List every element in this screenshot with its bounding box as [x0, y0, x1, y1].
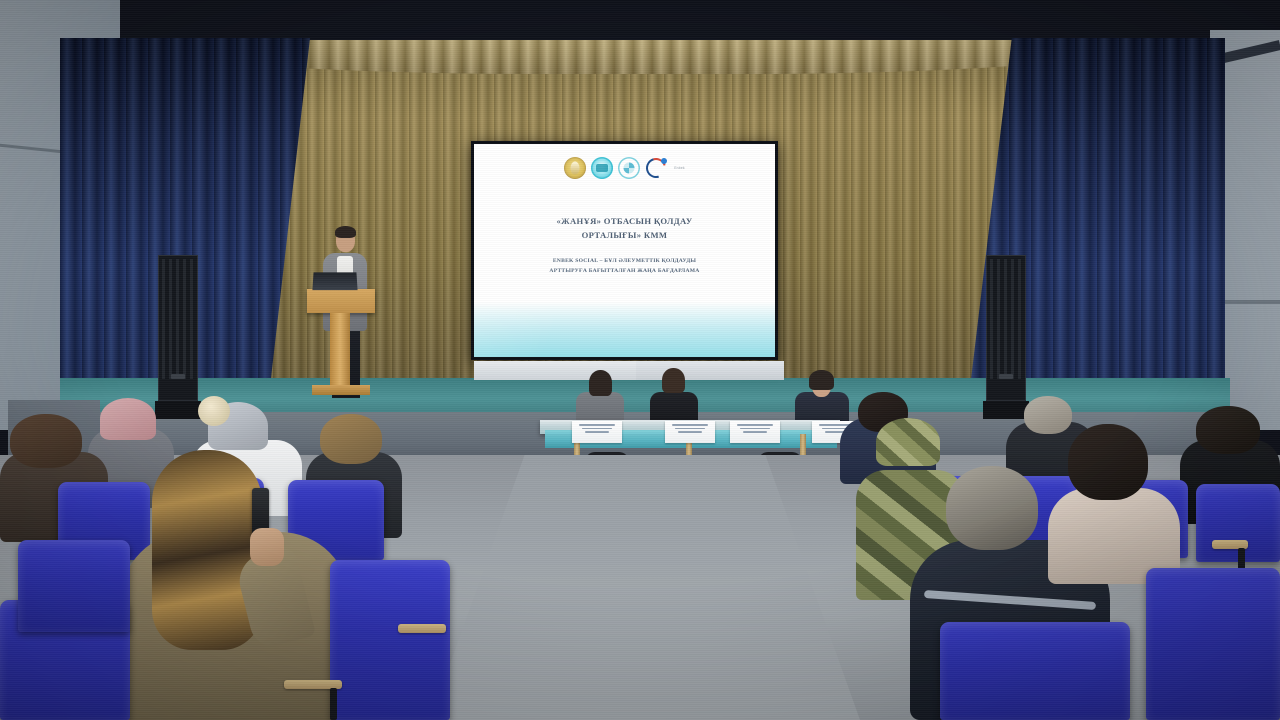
auditorium-seat[interactable]	[940, 622, 1130, 720]
presentation-slide: Enbek «ЖАНҰЯ» ОТБАСЫН ҚОЛДАУ ОРТАЛЫҒЫ» К…	[474, 144, 775, 357]
slide-title-line2: ОРТАЛЫҒЫ» КММ	[474, 228, 775, 242]
podium-base	[312, 385, 370, 395]
slide-title-line1: «ЖАНҰЯ» ОТБАСЫН ҚОЛДАУ	[474, 214, 775, 228]
panelist-hair	[589, 370, 612, 396]
screen-stand-left	[474, 361, 636, 380]
auditorium-seat[interactable]	[18, 540, 130, 632]
logo-caption: Enbek	[674, 166, 685, 170]
audience-head	[1024, 396, 1072, 434]
auditorium-seat[interactable]	[330, 560, 450, 720]
kazakhstan-coat-of-arms-logo	[564, 157, 586, 179]
screen-stand-right	[636, 361, 784, 380]
armrest-bracket	[330, 688, 337, 720]
panelist-hair	[809, 370, 834, 390]
ponytail-hair	[152, 450, 262, 650]
audience-head	[320, 414, 382, 464]
speaker-grill	[162, 259, 194, 379]
phone-hand	[250, 528, 284, 566]
social-arc-logo	[645, 157, 667, 179]
name-card-2	[665, 421, 715, 443]
enbek-teal-logo	[591, 157, 613, 179]
slide-subtitle-line1: ENBEK SOCIAL – БҰЛ ӘЛЕУМЕТТІК ҚОЛДАУДЫ	[474, 257, 775, 267]
wooden-podium-top	[307, 289, 375, 313]
speaker-subwoofer	[983, 401, 1029, 419]
slide-subtitle: ENBEK SOCIAL – БҰЛ ӘЛЕУМЕТТІК ҚОЛДАУДЫ А…	[474, 257, 775, 276]
auditorium-scene: Enbek «ЖАНҰЯ» ОТБАСЫН ҚОЛДАУ ОРТАЛЫҒЫ» К…	[0, 0, 1280, 720]
beanie-pompom	[198, 396, 230, 426]
slide-logo-row: Enbek	[474, 157, 775, 179]
speaker-badge	[999, 374, 1013, 379]
pa-speaker-left	[158, 255, 198, 401]
speaker-subwoofer	[155, 401, 201, 419]
slide-title: «ЖАНҰЯ» ОТБАСЫН ҚОЛДАУ ОРТАЛЫҒЫ» КММ	[474, 214, 775, 242]
audience-head	[1196, 406, 1260, 454]
speaker-badge	[171, 374, 185, 379]
podium-laptop	[312, 272, 357, 290]
panelist-hair	[662, 368, 685, 393]
audience-head	[1068, 424, 1148, 500]
audience-headscarf	[100, 398, 156, 440]
name-card-1	[572, 421, 622, 443]
name-card-3	[730, 421, 780, 443]
audience-head	[10, 414, 82, 468]
audience-head	[946, 466, 1038, 550]
speaker-grill	[990, 259, 1022, 379]
seat-armrest	[398, 624, 446, 633]
slide-subtitle-line2: АРТТЫРУҒА БАҒЫТТАЛҒАН ЖАҢА БАҒДАРЛАМА	[474, 267, 775, 277]
projection-screen: Enbek «ЖАНҰЯ» ОТБАСЫН ҚОЛДАУ ОРТАЛЫҒЫ» К…	[471, 141, 778, 360]
pa-speaker-right	[986, 255, 1026, 401]
camouflage-cap	[876, 418, 940, 466]
standing-presenter-hair	[335, 226, 356, 238]
auditorium-seat[interactable]	[1146, 568, 1280, 720]
podium-column	[330, 313, 350, 385]
ministry-outline-logo	[618, 157, 640, 179]
